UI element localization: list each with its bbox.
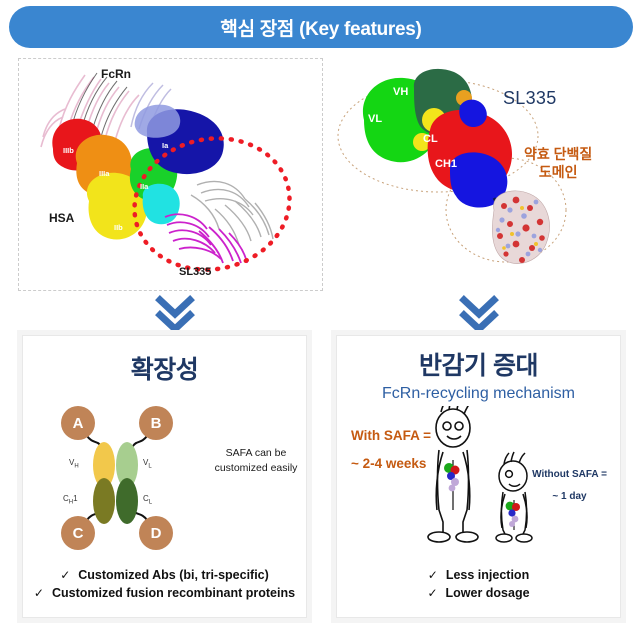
sl335-fab-panel: SL335 약효 단백질 도메인 VH VL CL CH1 [330,58,630,291]
safa-molecule-short [506,502,520,527]
page-title: 핵심 장점 (Key features) [220,14,421,41]
label-domain-iia: IIa [140,182,148,191]
safa-note-text: SAFA can be customized easily [211,446,301,476]
check-icon: ✓ [60,566,70,584]
label-sl335-main: SL335 [503,88,557,109]
short-stick-figure [496,452,532,542]
scalability-panel: 확장성 A B C D VH VL CH1 CL SAFA can be cus… [22,335,307,618]
domain-oval-cl [116,478,138,524]
safa-molecule-tall [444,463,460,491]
label-cl: CL [423,133,438,145]
half-life-panel: 반감기 증대 FcRn-recycling mechanism With SAF… [336,335,621,618]
domain-oval-ch1 [93,478,115,524]
label-domain-iiia: IIIa [99,169,109,178]
label-fcrn: FcRn [101,67,131,81]
bullet-text: Customized fusion recombinant proteins [52,584,295,603]
label-sl335: SL335 [179,266,211,278]
half-life-subtitle: FcRn-recycling mechanism [337,385,620,403]
fcrn-hsa-molecular-figure: FcRn HSA SL335 IIIb IIIa Ia IIa IIb [19,59,322,290]
bullet-row: ✓ Customized fusion recombinant proteins [23,584,306,603]
half-life-title: 반감기 증대 [337,346,620,382]
bullet-text: Customized Abs (bi, tri-specific) [78,566,269,585]
half-life-bullets: ✓ Less injection ✓ Lower dosage [337,566,620,604]
label-vh: VH [393,86,408,98]
domain-label-vh: VH [69,458,79,470]
safa-node-a: A [61,406,95,440]
scalability-bullets: ✓ Customized Abs (bi, tri-specific) ✓ Cu… [23,566,306,604]
bullet-text: Less injection [446,566,529,585]
domain-label-cl: CL [143,494,152,506]
check-icon: ✓ [428,566,438,584]
domain-label-ch1: CH1 [63,494,78,506]
bullet-row: ✓ Customized Abs (bi, tri-specific) [23,566,306,585]
chevron-down-icon-left [152,295,198,335]
label-domain-iib: IIb [114,223,123,232]
safa-node-c: C [61,516,95,550]
label-domain-iiib: IIIb [63,146,74,155]
safa-node-d: D [139,516,173,550]
safa-node-b: B [139,406,173,440]
check-icon: ✓ [34,584,44,602]
label-ch1: CH1 [435,158,457,170]
stick-figures-illustration [409,406,559,551]
label-vl: VL [368,113,382,125]
bullet-row: ✓ Less injection [337,566,620,585]
label-drug-protein-domain: 약효 단백질 도메인 [524,146,592,181]
bullet-text: Lower dosage [446,584,530,603]
check-icon: ✓ [427,584,437,602]
chevron-down-icon-right [456,295,502,335]
fcrn-hsa-structure-svg [19,59,322,290]
label-drug-protein-domain-line1: 약효 단백질 [524,146,592,164]
label-drug-protein-domain-line2: 도메인 [524,164,592,182]
fcrn-hsa-complex-panel: FcRn HSA SL335 IIIb IIIa Ia IIa IIb [18,58,323,291]
scalability-title: 확장성 [23,350,306,386]
domain-label-vl: VL [143,458,152,470]
safa-customization-diagram: A B C D VH VL CH1 CL [53,406,203,551]
bullet-row: ✓ Lower dosage [337,584,620,603]
sl335-fab-figure: SL335 약효 단백질 도메인 VH VL CL CH1 [330,58,630,291]
header-banner: 핵심 장점 (Key features) [9,6,633,48]
label-domain-ia: Ia [162,141,168,150]
label-hsa: HSA [49,211,74,225]
